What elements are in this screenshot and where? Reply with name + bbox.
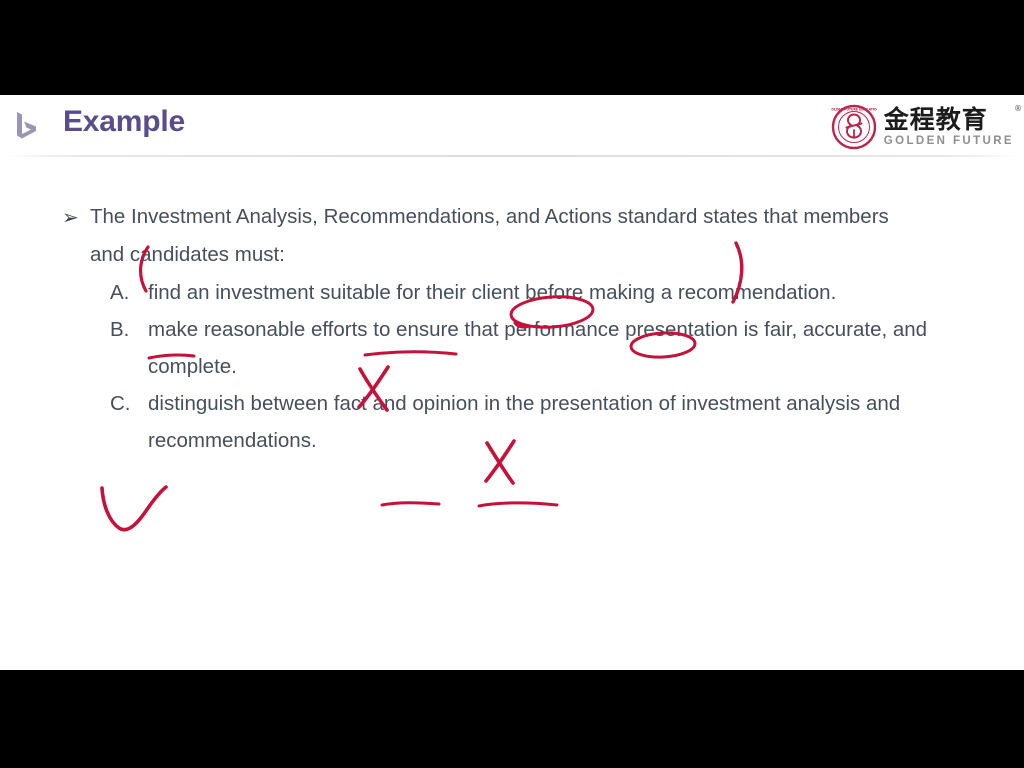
content-stack: ➢ The Investment Analysis, Recommendatio… — [58, 198, 958, 459]
ink-checkmark-option-c — [102, 487, 166, 530]
question-stem: ➢ The Investment Analysis, Recommendatio… — [58, 198, 958, 274]
answer-option-a[interactable]: A. find an investment suitable for their… — [110, 274, 958, 311]
logo-chinese-text: 金程教育 — [884, 105, 988, 134]
option-text-b: make reasonable efforts to ensure that p… — [148, 311, 938, 385]
option-letter-b: B. — [110, 311, 148, 348]
option-text-a: find an investment suitable for their cl… — [148, 274, 938, 311]
svg-text:GOLDEN FUTURE EDUCATION: GOLDEN FUTURE EDUCATION — [831, 108, 877, 112]
bing-b-logo-icon — [9, 107, 45, 143]
option-letter-a: A. — [110, 274, 148, 311]
corporate-logo: GOLDEN FUTURE EDUCATION 金程教育® GOLDEN FUT… — [831, 103, 1014, 151]
slide-header: Example GOLDEN FUTURE EDUCATION — [0, 95, 1024, 155]
registered-trademark-icon: ® — [1014, 105, 1023, 113]
question-stem-text: The Investment Analysis, Recommendations… — [90, 198, 890, 274]
option-a-line-2: recommendation. — [678, 281, 836, 304]
logo-chinese-name: 金程教育® — [884, 107, 1014, 132]
option-letter-c: C. — [110, 385, 148, 422]
arrow-bullet-icon: ➢ — [58, 198, 90, 236]
letterbox-bar-bottom — [0, 670, 1024, 768]
slide-body: ➢ The Investment Analysis, Recommendatio… — [0, 155, 1024, 670]
logo-wordmark: 金程教育® GOLDEN FUTURE — [884, 107, 1014, 148]
option-c-line-1: distinguish between fact and opinion in … — [148, 392, 676, 415]
presentation-slide: Example GOLDEN FUTURE EDUCATION — [0, 95, 1024, 670]
answer-options-list: A. find an investment suitable for their… — [58, 274, 958, 459]
answer-option-b[interactable]: B. make reasonable efforts to ensure tha… — [110, 311, 958, 385]
golden-future-seal-icon: GOLDEN FUTURE EDUCATION — [831, 104, 877, 150]
ink-underline-opinion — [479, 503, 557, 506]
page-title: Example — [63, 105, 185, 139]
video-frame: Example GOLDEN FUTURE EDUCATION — [0, 0, 1024, 768]
answer-option-c[interactable]: C. distinguish between fact and opinion … — [110, 385, 958, 459]
option-a-line-1: find an investment suitable for their cl… — [148, 281, 672, 304]
question-stem-line-1: The Investment Analysis, Recommendations… — [90, 205, 697, 228]
logo-english-name: GOLDEN FUTURE — [884, 136, 1014, 148]
option-text-c: distinguish between fact and opinion in … — [148, 385, 938, 459]
ink-underline-fact — [382, 503, 439, 505]
letterbox-bar-top — [0, 0, 1024, 95]
option-b-line-1: make reasonable efforts to ensure that p… — [148, 318, 738, 341]
